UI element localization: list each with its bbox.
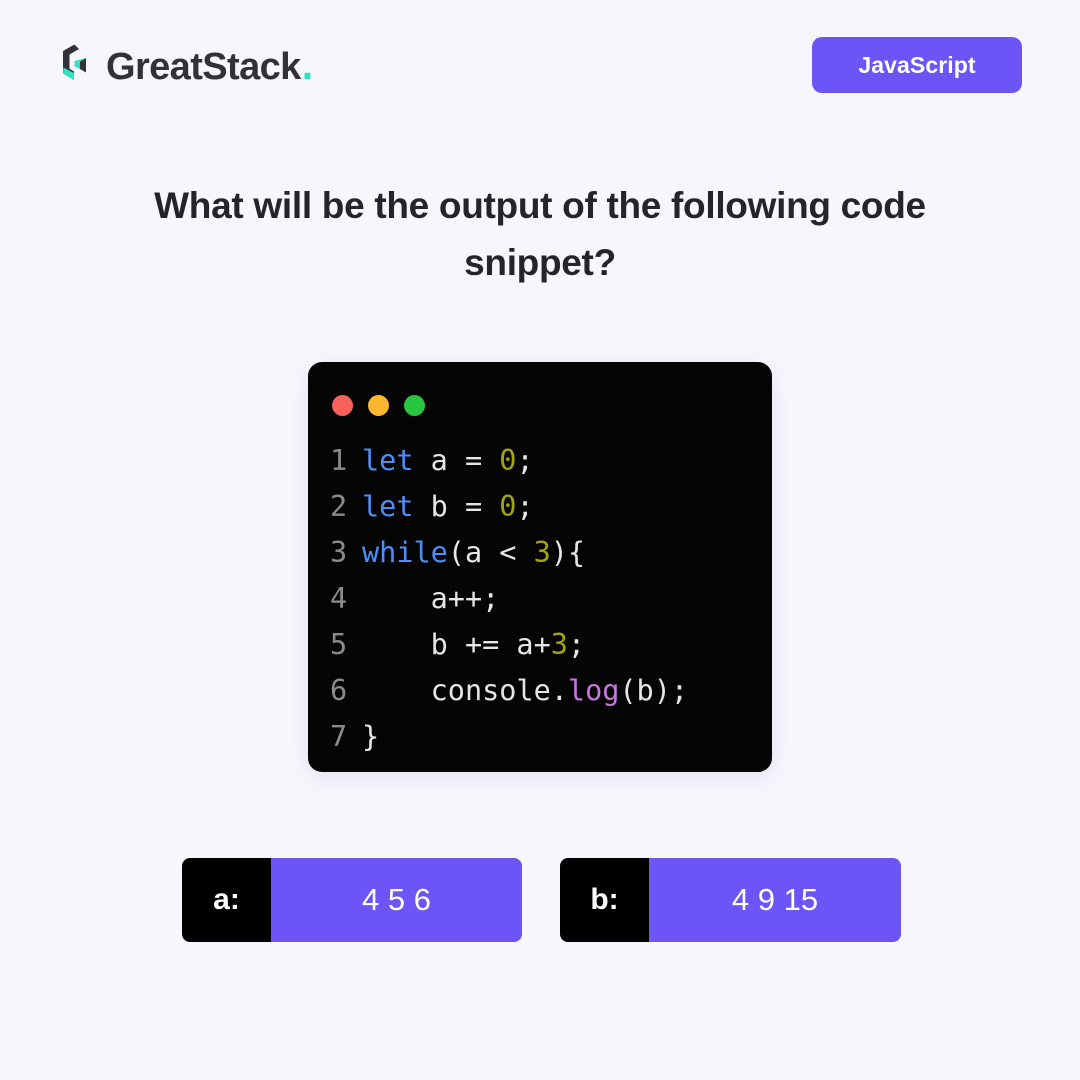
answer-option-a-key: a:: [182, 858, 271, 942]
code-line-text: let a = 0;: [362, 438, 534, 484]
code-line-number: 7: [308, 714, 362, 760]
window-traffic-lights: [308, 395, 772, 416]
code-line-number: 6: [308, 668, 362, 714]
code-line-number: 2: [308, 484, 362, 530]
code-line: 3while(a < 3){: [308, 530, 772, 576]
code-line-text: console.log(b);: [362, 668, 688, 714]
code-line-number: 1: [308, 438, 362, 484]
code-line-text: while(a < 3){: [362, 530, 585, 576]
code-line: 1let a = 0;: [308, 438, 772, 484]
code-line-text: b += a+3;: [362, 622, 585, 668]
greatstack-cube-icon: [56, 43, 96, 87]
answer-options: a: 4 5 6 b: 4 9 15: [182, 858, 901, 942]
answer-option-b-key: b:: [560, 858, 649, 942]
brand-logo[interactable]: GreatStack.: [56, 43, 313, 87]
code-body: 1let a = 0;2let b = 0;3while(a < 3){4 a+…: [308, 438, 772, 760]
code-line-text: let b = 0;: [362, 484, 534, 530]
code-line-text: a++;: [362, 576, 499, 622]
code-line: 7}: [308, 714, 772, 760]
brand-name: GreatStack.: [106, 44, 313, 86]
code-line-number: 4: [308, 576, 362, 622]
close-dot-icon[interactable]: [332, 395, 353, 416]
answer-option-a[interactable]: a: 4 5 6: [182, 858, 522, 942]
code-line: 4 a++;: [308, 576, 772, 622]
brand-name-text: GreatStack: [106, 48, 301, 86]
code-snippet-card: 1let a = 0;2let b = 0;3while(a < 3){4 a+…: [308, 362, 772, 772]
page-header: GreatStack. JavaScript: [0, 0, 1080, 130]
code-line: 2let b = 0;: [308, 484, 772, 530]
minimize-dot-icon[interactable]: [368, 395, 389, 416]
code-line: 6 console.log(b);: [308, 668, 772, 714]
code-line-text: }: [362, 714, 379, 760]
answer-option-b[interactable]: b: 4 9 15: [560, 858, 901, 942]
language-badge-button[interactable]: JavaScript: [812, 37, 1022, 93]
answer-option-b-value: 4 9 15: [649, 858, 901, 942]
answer-option-a-value: 4 5 6: [271, 858, 522, 942]
code-line: 5 b += a+3;: [308, 622, 772, 668]
brand-dot: .: [302, 44, 313, 86]
code-line-number: 3: [308, 530, 362, 576]
code-line-number: 5: [308, 622, 362, 668]
maximize-dot-icon[interactable]: [404, 395, 425, 416]
question-title: What will be the output of the following…: [90, 178, 990, 292]
